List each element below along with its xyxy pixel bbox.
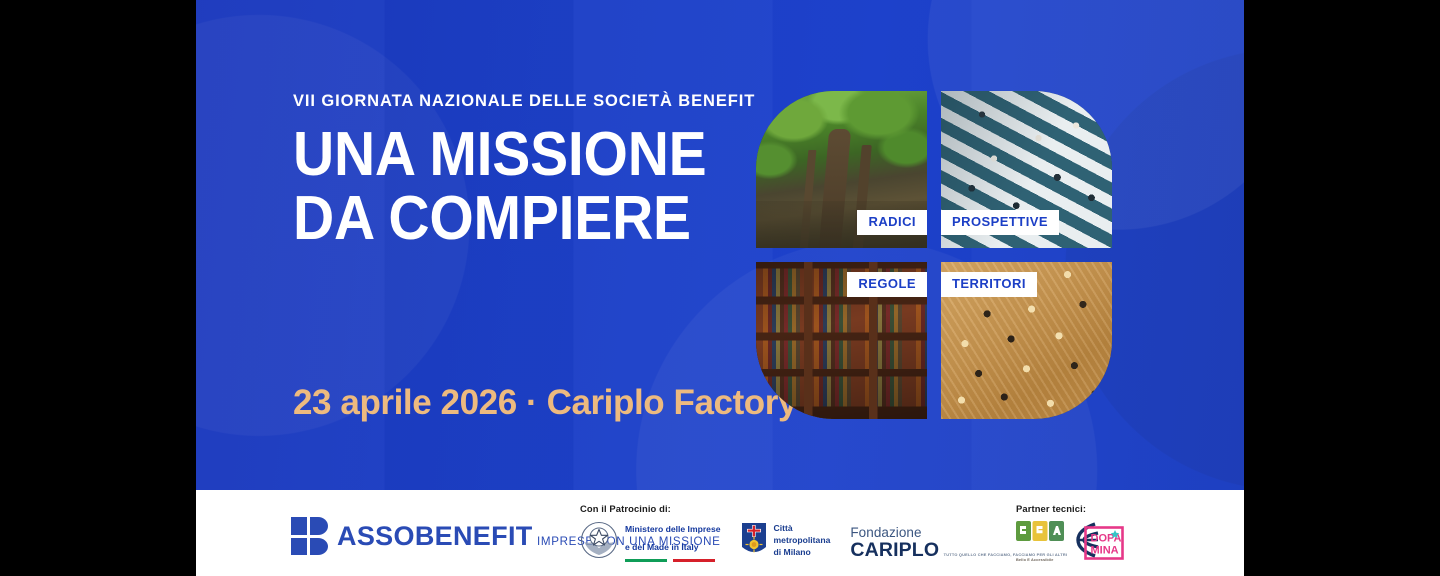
theme-tile-grid: RADICI PROSPETTIVE REGOLE TERRITORI [756, 91, 1114, 425]
tile-badge-radici: RADICI [857, 210, 927, 235]
hero-section: VII GIORNATA NAZIONALE DELLE SOCIETÀ BEN… [196, 0, 1244, 490]
ministero-imprese-logo[interactable]: Ministero delle Imprese e del Made in It… [580, 519, 721, 562]
event-eyebrow: VII GIORNATA NAZIONALE DELLE SOCIETÀ BEN… [293, 92, 763, 110]
citta-metropolitana-milano-logo[interactable]: Città metropolitana di Milano [741, 522, 831, 558]
svg-text:MINA: MINA [1091, 544, 1119, 556]
dopamina-logo[interactable]: DOPA MINA [1084, 526, 1124, 560]
tile-badge-prospettive: PROSPETTIVE [941, 210, 1059, 235]
tile-badge-territori: TERRITORI [941, 272, 1037, 297]
partner-logo-row: Bello E Accessibile DOPA MINA [1016, 519, 1124, 566]
footer-divider [196, 490, 1244, 491]
assobenefit-b-mark-icon [290, 516, 328, 556]
ministero-name: Ministero delle Imprese e del Made in It… [625, 524, 721, 552]
repubblica-italiana-emblem-icon [580, 521, 618, 559]
bea-logo[interactable]: Bello E Accessibile [1016, 519, 1064, 566]
citta-metropolitana-text: Città metropolitana di Milano [774, 522, 831, 558]
ministero-line-1: Ministero delle Imprese [625, 524, 721, 534]
slide-footer: ASSOBENEFIT IMPRESE CON UNA MISSIONE Con… [196, 490, 1244, 576]
slide-stage: VII GIORNATA NAZIONALE DELLE SOCIETÀ BEN… [0, 0, 1440, 576]
cariplo-fondazione-word: Fondazione [850, 525, 921, 540]
italian-flag-rules [625, 559, 721, 562]
ministero-text-block: Ministero delle Imprese e del Made in It… [625, 519, 721, 562]
cm-line-1: Città [774, 523, 793, 533]
tile-radici[interactable]: RADICI [756, 91, 927, 248]
tile-territori[interactable]: TERRITORI [941, 262, 1112, 419]
hero-copy-block: VII GIORNATA NAZIONALE DELLE SOCIETÀ BEN… [293, 92, 763, 247]
tile-regole[interactable]: REGOLE [756, 262, 927, 419]
cm-line-3: di Milano [774, 547, 811, 557]
partner-tecnici-label: Partner tecnici: [1016, 503, 1124, 514]
flag-rule-red [673, 559, 715, 562]
ministero-line-2: e del Made in Italy [625, 542, 699, 552]
presentation-slide: VII GIORNATA NAZIONALE DELLE SOCIETÀ BEN… [196, 0, 1244, 576]
bea-tagline: Bello E Accessibile [1016, 558, 1054, 562]
page-title: UNA MISSIONE DA COMPIERE [293, 126, 725, 247]
letterbox-bar-right [1244, 0, 1440, 576]
assobenefit-name: ASSOBENEFIT [337, 521, 533, 551]
tile-badge-regole: REGOLE [847, 272, 927, 297]
partner-tecnici-group: Partner tecnici: [1016, 503, 1124, 566]
tile-prospettive[interactable]: PROSPETTIVE [941, 91, 1112, 248]
flag-rule-green [625, 559, 667, 562]
letterbox-bar-left [0, 0, 196, 576]
event-date-venue: 23 aprile 2026 · Cariplo Factory [293, 383, 797, 423]
headline-line-1: UNA MISSIONE [293, 126, 725, 184]
milano-shield-icon [741, 522, 767, 558]
cariplo-name: CARIPLO [850, 539, 939, 561]
cm-line-2: metropolitana [774, 535, 831, 545]
bea-logo-icon [1016, 530, 1064, 547]
headline-line-2: DA COMPIERE [293, 190, 725, 248]
dopamina-logo-icon: DOPA MINA [1084, 547, 1124, 564]
